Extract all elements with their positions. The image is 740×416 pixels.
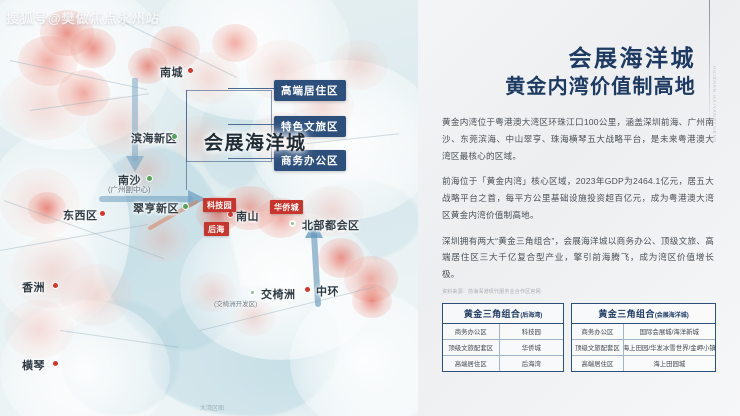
title-block: 会展海洋城 黄金内湾价值制高地: [505, 44, 696, 101]
paragraph-3: 深圳拥有两大“黄金三角组合”，会展海洋城以商务办公、顶级文旅、高端居住区三大千亿…: [442, 233, 714, 283]
map-sublabel-nansha: (广州副中心): [108, 184, 151, 195]
map-dot-nancheng: [188, 68, 193, 73]
body-copy: 黄金内湾位于粤港澳大湾区环珠江口100公里，涵盖深圳前海、广州南沙、东莞滨海、中…: [442, 114, 714, 301]
source-note: 资料来源：前海深港现代服务业合作区官网: [442, 288, 714, 295]
table-cell-value: 科技园: [500, 324, 564, 339]
flow-arrow-north: [122, 78, 148, 174]
table-row: 顶级文旅配套区 海上田园/华发冰雪世界/金岬小镇: [572, 340, 715, 356]
map-credit-note: (交椅洲开发区): [214, 298, 257, 308]
table-cell-key: 顶级文旅配套区: [443, 340, 500, 355]
map-callout-high-end-residential[interactable]: 高端居住区: [274, 80, 346, 101]
density-blob: [4, 300, 74, 358]
table-cell-key: 顶级文旅配套区: [572, 340, 623, 355]
table-row: 商务办公区 科技园: [443, 324, 563, 340]
map-label-northern-metropolis: 北部都会区: [302, 217, 360, 233]
callout-leader-1: [228, 88, 274, 89]
tables-container: 黄金三角组合(后海湾) 商务办公区 科技园 顶级文旅配套区 华侨城 高端居住区 …: [442, 303, 716, 372]
table-title-paren: (会展海洋城): [655, 313, 689, 319]
map-dot-cuiheng: [183, 204, 188, 209]
map-dot-binhai: [172, 134, 177, 139]
paragraph-1: 黄金内湾位于粤港澳大湾区环珠江口100公里，涵盖深圳前海、广州南沙、东莞滨海、中…: [442, 114, 714, 164]
table-golden-triangle-houhai: 黄金三角组合(后海湾) 商务办公区 科技园 顶级文旅配套区 华侨城 高端居住区 …: [442, 303, 564, 372]
map-panel[interactable]: 高端居住区 特色文旅区 商务办公区 会展海洋城 南城 滨海新区 南沙 (广州副中…: [0, 0, 418, 416]
table-golden-triangle-huizhan: 黄金三角组合(会展海洋城) 商务办公区 国际会展城/海洋新城 顶级文旅配套区 海…: [571, 303, 716, 372]
map-tag-keji-yuan[interactable]: 科技园: [203, 198, 236, 212]
map-dot-hengqin: [53, 361, 58, 366]
map-dot-jiaoyizhou: [250, 290, 255, 295]
table-cell-value: 后海湾: [500, 356, 564, 371]
table-cell-key: 商务办公区: [443, 324, 500, 339]
map-dot-northern-metropolis: [290, 221, 295, 226]
table-header: 黄金三角组合(会展海洋城): [572, 304, 715, 324]
poster-page: 高端居住区 特色文旅区 商务办公区 会展海洋城 南城 滨海新区 南沙 (广州副中…: [0, 0, 740, 416]
map-tag-houhai[interactable]: 后海: [204, 222, 229, 236]
table-cell-key: 商务办公区: [572, 324, 623, 339]
map-label-nancheng: 南城: [160, 64, 183, 80]
table-cell-value: 海上田园城: [624, 356, 715, 371]
map-label-xiangzhou: 香洲: [22, 279, 45, 295]
map-label-hengqin: 横琴: [22, 357, 45, 373]
map-tag-huaqiaocheng[interactable]: 华侨城: [270, 200, 303, 214]
watermark-text: 搜狐号@樊做焦点永州站: [6, 8, 160, 27]
map-dot-xiangzhou: [53, 283, 58, 288]
paragraph-2: 前海位于「黄金内湾」核心区域，2023年GDP为2464.1亿元，居五大战略平台…: [442, 173, 714, 223]
callout-leader-2: [228, 124, 274, 125]
density-blob: [352, 284, 392, 318]
map-label-nanshan: 南山: [236, 208, 259, 224]
table-row: 顶级文旅配套区 华侨城: [443, 340, 563, 356]
map-dot-central: [305, 287, 310, 292]
focus-guide: [186, 90, 187, 190]
table-title: 黄金三角组合: [598, 309, 654, 319]
map-project-title: 会展海洋城: [204, 128, 307, 155]
table-cell-value: 华侨城: [500, 340, 564, 355]
table-cell-key: 高端居住区: [572, 356, 623, 371]
map-label-binhai-xinqu-a: 滨海新区: [131, 130, 177, 146]
callout-leader-3: [228, 158, 274, 159]
table-title: 黄金三角组合: [464, 309, 520, 319]
table-cell-key: 高端居住区: [443, 356, 500, 371]
map-label-central: 中环: [316, 283, 339, 299]
density-blob: [28, 192, 66, 224]
map-dot-nansha: [147, 176, 152, 181]
table-title-paren: (后海湾): [520, 313, 542, 319]
table-cell-value: 海上田园/华发冰雪世界/金岬小镇: [624, 340, 715, 355]
page-title: 会展海洋城: [505, 44, 696, 73]
map-label-cuiheng-xinqu: 翠亨新区: [133, 200, 179, 216]
map-dot-dongxiqu: [100, 211, 105, 216]
table-row: 高端居住区 后海湾: [443, 356, 563, 371]
table-row: 商务办公区 国际会展城/海洋新城: [572, 324, 715, 340]
table-cell-value: 国际会展城/海洋新城: [624, 324, 715, 339]
page-subtitle: 黄金内湾价值制高地: [505, 74, 696, 101]
map-label-jiaoyizhou: 交椅洲: [261, 286, 296, 302]
table-row: 高端居住区 海上田园城: [572, 356, 715, 371]
map-label-dongxiqu: 东西区: [63, 207, 98, 223]
map-dot-nanshan: [228, 212, 233, 217]
content-panel: HUIZHAN HAIYANGCHENG 会展海洋城 黄金内湾价值制高地 黄金内…: [418, 0, 740, 416]
table-header: 黄金三角组合(后海湾): [443, 304, 563, 324]
map-footer-note: 大湾区图: [200, 403, 224, 412]
